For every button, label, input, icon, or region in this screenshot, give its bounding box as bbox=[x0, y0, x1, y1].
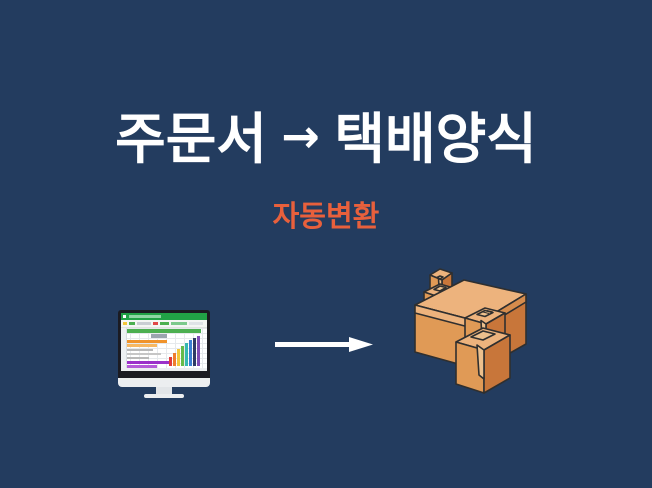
spreadsheet-orange-row-1 bbox=[127, 340, 167, 343]
box-front-lower bbox=[456, 328, 510, 393]
spreadsheet-selection-box bbox=[151, 334, 167, 338]
ribbon-swatch-green-a bbox=[129, 322, 135, 325]
monitor-stand-base bbox=[144, 394, 184, 398]
slide-canvas: 주문서 → 택배양식 자동변환 bbox=[0, 0, 652, 488]
ribbon-swatch-yellow bbox=[123, 322, 127, 325]
page-subtitle: 자동변환 bbox=[0, 203, 652, 232]
mini-bar-8 bbox=[197, 336, 200, 366]
mini-bar-5 bbox=[185, 343, 188, 366]
spreadsheet-title-band bbox=[127, 329, 201, 333]
mini-bar-7 bbox=[193, 338, 196, 366]
spreadsheet-ribbon bbox=[121, 320, 207, 328]
mini-bar-6 bbox=[189, 340, 192, 366]
spreadsheet-orange-row-2 bbox=[127, 344, 157, 347]
title-left-text: 주문서 bbox=[115, 112, 267, 167]
mini-bar-1 bbox=[169, 357, 172, 366]
spreadsheet-app-icon bbox=[123, 315, 126, 318]
title-right-text: 택배양식 bbox=[334, 112, 536, 167]
ribbon-swatch-grey-a bbox=[137, 322, 151, 325]
spreadsheet-bar-chart bbox=[169, 337, 203, 371]
ribbon-swatch-grey-b bbox=[189, 322, 203, 325]
boxes-illustration bbox=[413, 252, 553, 397]
subtitle-text: 자동변환 bbox=[273, 201, 380, 233]
page-title: 주문서 → 택배양식 bbox=[0, 112, 652, 167]
spreadsheet-toolbar bbox=[121, 313, 207, 320]
mini-bar-4 bbox=[181, 346, 184, 366]
spreadsheet-grey-row-1 bbox=[127, 349, 153, 351]
spreadsheet-status-bar bbox=[121, 368, 207, 371]
spreadsheet-grey-row-2 bbox=[127, 353, 161, 355]
title-arrow-glyph: → bbox=[271, 113, 330, 159]
ribbon-swatch-green-b bbox=[160, 322, 169, 325]
spreadsheet-purple-row-1 bbox=[127, 361, 169, 364]
ribbon-swatch-red bbox=[153, 322, 158, 325]
mini-bar-2 bbox=[173, 353, 176, 366]
flow-arrow-icon bbox=[275, 336, 375, 354]
monitor-screen bbox=[121, 313, 207, 371]
monitor-chin bbox=[118, 378, 210, 387]
monitor-bezel bbox=[118, 310, 210, 378]
spreadsheet-grey-row-3 bbox=[127, 357, 149, 359]
monitor-illustration bbox=[118, 310, 210, 396]
spreadsheet-titlebar-text bbox=[129, 315, 161, 318]
mini-bar-3 bbox=[177, 349, 180, 366]
ribbon-swatch-green-c bbox=[171, 322, 187, 325]
